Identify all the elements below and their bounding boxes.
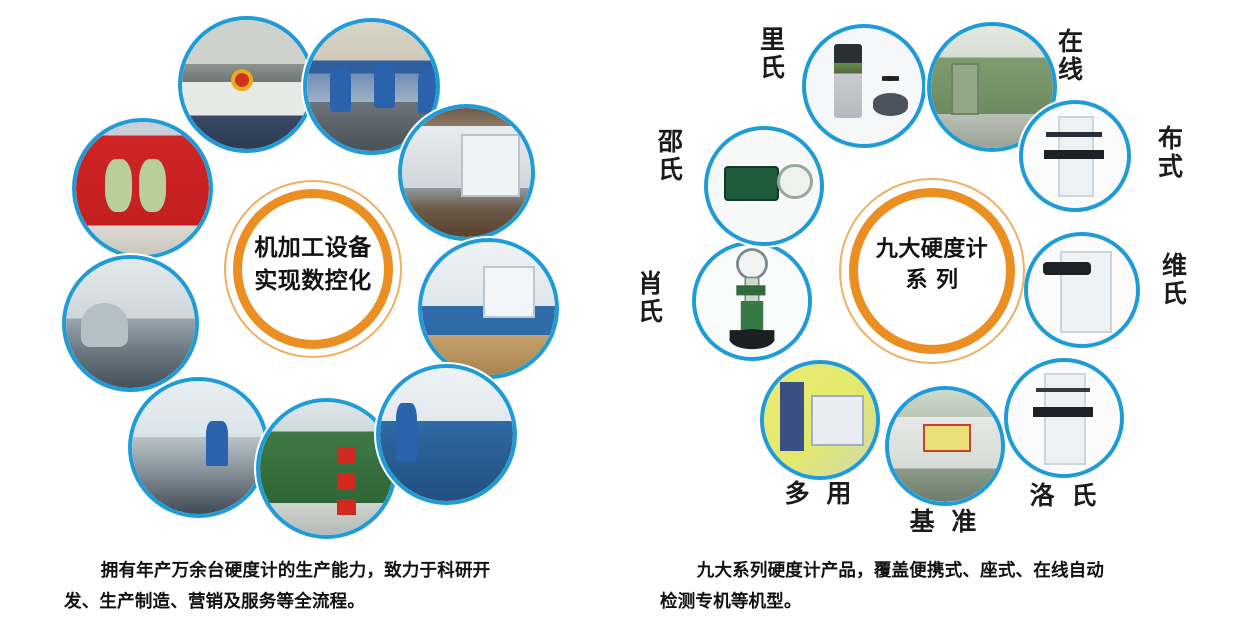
label-shore: 邵 氏 (650, 128, 692, 184)
label-leeb: 里 氏 (752, 26, 794, 82)
item-shore[interactable] (704, 126, 824, 246)
photo-shore-durometer (708, 130, 820, 242)
left-caption-line1: 拥有年产万余台硬度计的生产能力，致力于科研开 (101, 561, 491, 581)
right-caption-line2: 检测专机等机型。 (660, 592, 802, 612)
photo-cnc-turning-operator (380, 368, 513, 501)
photo-green-press-machine (260, 402, 393, 535)
right-caption-line1: 九大系列硬度计产品，覆盖便携式、座式、在线自动 (697, 561, 1104, 581)
right-center-ring: 九大硬度计 系 列 (839, 178, 1025, 364)
right-center-line1: 九大硬度计 (839, 234, 1025, 265)
item-vickers[interactable] (1024, 232, 1140, 348)
item-reference[interactable] (885, 386, 1005, 506)
item-scleroscope[interactable] (692, 241, 812, 361)
photo-sawing-machine (182, 20, 311, 149)
item-multipurpose[interactable] (760, 360, 880, 480)
label-reference: 基 准 (885, 508, 1005, 536)
left-center-line2: 实现数控化 (224, 265, 402, 298)
photo-multipurpose-tester (764, 364, 876, 476)
label-multipurpose: 多 用 (760, 480, 880, 508)
photo-reference-machine (889, 390, 1001, 502)
photo-vertical-machining-center (132, 381, 265, 514)
bubble-sawing-machine[interactable] (178, 16, 315, 153)
photo-brinell-tester (1023, 104, 1127, 208)
bubble-green-press-machine[interactable] (256, 398, 397, 539)
photo-cnc-machining-center (402, 108, 531, 237)
label-vickers: 维 氏 (1154, 252, 1196, 308)
right-center-label: 九大硬度计 系 列 (839, 234, 1025, 296)
photo-vickers-tester (1028, 236, 1136, 344)
right-caption: 九大系列硬度计产品，覆盖便携式、座式、在线自动 检测专机等机型。 (660, 556, 1190, 618)
photo-leeb-tester (806, 28, 922, 144)
photo-cnc-lathe-line (422, 242, 555, 375)
item-brinell[interactable] (1019, 100, 1131, 212)
bubble-cnc-lathe-line[interactable] (418, 238, 559, 379)
photo-grinding-machine (66, 259, 195, 388)
bubble-cnc-turning-operator[interactable] (376, 364, 517, 505)
poster-root: 机加工设备 实现数控化 拥有年产万余台硬度计的生产能力，致力于科研开 发、生产制… (0, 0, 1235, 621)
label-rockwell: 洛 氏 (1005, 482, 1125, 510)
photo-scleroscope-tester (696, 245, 808, 357)
bubble-red-paint-booth[interactable] (72, 118, 213, 259)
bubble-grinding-machine[interactable] (62, 255, 199, 392)
bubble-cnc-machining-center[interactable] (398, 104, 535, 241)
label-scleroscope: 肖 氏 (630, 270, 672, 326)
item-rockwell[interactable] (1004, 358, 1124, 478)
left-center-line1: 机加工设备 (224, 232, 402, 265)
left-caption: 拥有年产万余台硬度计的生产能力，致力于科研开 发、生产制造、营销及服务等全流程。 (64, 556, 584, 618)
left-caption-line2: 发、生产制造、营销及服务等全流程。 (64, 592, 365, 612)
photo-rockwell-tester (1008, 362, 1120, 474)
label-brinell: 布 式 (1150, 125, 1192, 181)
photo-red-paint-booth (76, 122, 209, 255)
item-leeb[interactable] (802, 24, 926, 148)
left-center-ring: 机加工设备 实现数控化 (224, 180, 402, 358)
bubble-vertical-machining-center[interactable] (128, 377, 269, 518)
label-online: 在 线 (1050, 28, 1092, 84)
right-center-line2: 系 列 (839, 265, 1025, 296)
left-center-label: 机加工设备 实现数控化 (224, 232, 402, 297)
